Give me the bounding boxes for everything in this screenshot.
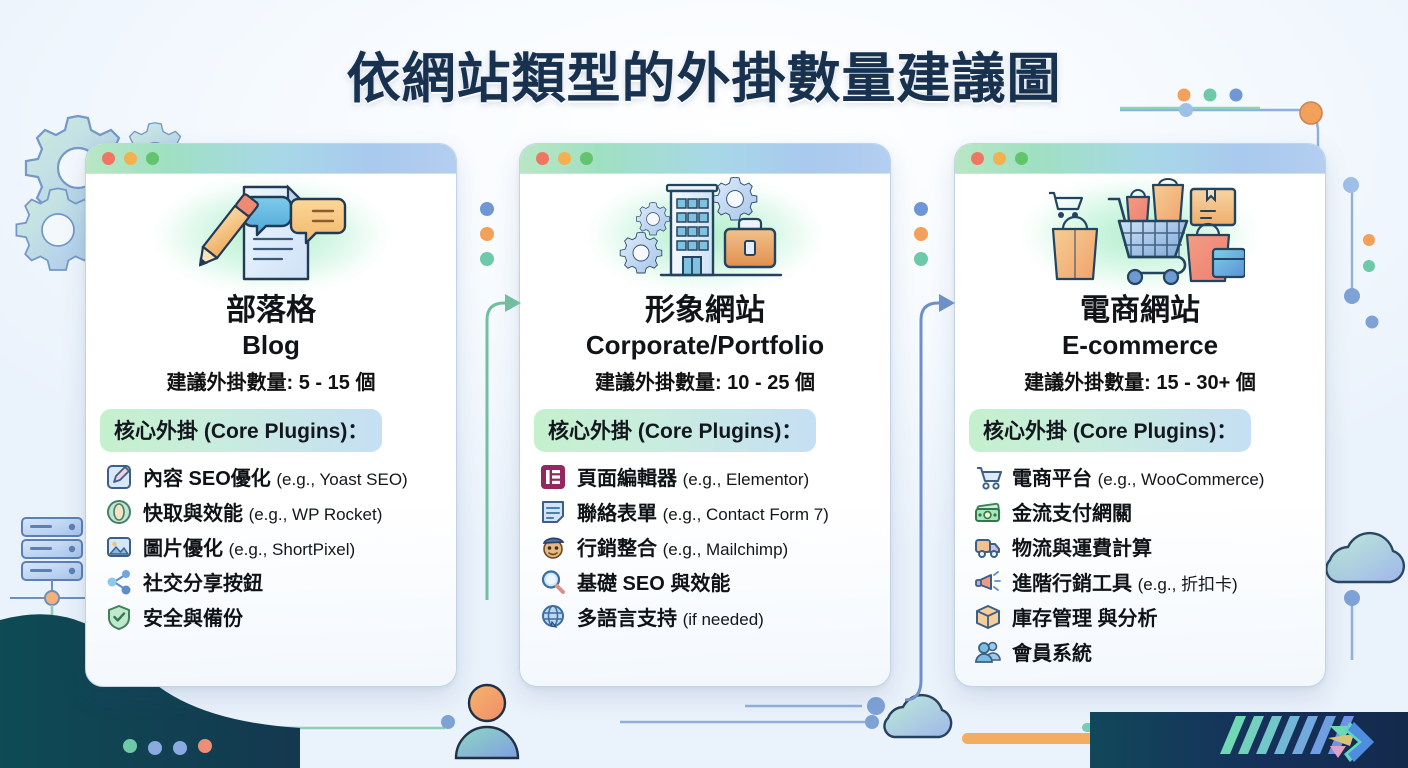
shopping-cart-icon [973, 462, 1003, 492]
list-item[interactable]: 圖片優化 (e.g., ShortPixel) [104, 532, 456, 562]
illustration-document-pencil-chat [86, 174, 456, 292]
window-titlebar [955, 144, 1325, 174]
list-item[interactable]: 電商平台 (e.g., WooCommerce) [973, 462, 1325, 492]
list-item-text: 進階行銷工具 (e.g., 折扣卡) [1012, 567, 1238, 596]
list-item[interactable]: 安全與備份 [104, 602, 456, 632]
list-item-text: 內容 SEO優化 (e.g., Yoast SEO) [143, 462, 408, 491]
list-item-text: 金流支付網關 [1012, 497, 1132, 526]
elementor-icon [538, 462, 568, 492]
list-item[interactable]: 多語言支持 (if needed) [538, 602, 890, 632]
arrow-blog-to-corporate [487, 303, 512, 600]
card-name-cn: 部落格 [96, 294, 446, 329]
plugin-list: 電商平台 (e.g., WooCommerce) 金流支付網關 [955, 460, 1325, 667]
card-plugin-count: 建議外掛數量: 5 - 15 個 [96, 366, 446, 395]
mailchimp-icon [538, 532, 568, 562]
flow-lines-bottom-right [620, 706, 875, 722]
window-dot-yellow[interactable] [124, 152, 137, 165]
money-icon [973, 497, 1003, 527]
speedometer-icon [104, 497, 134, 527]
illustration-shopping-cart-bags-box [955, 174, 1325, 292]
flow-node-dot [865, 715, 879, 729]
list-item-text: 安全與備份 [143, 602, 243, 631]
card-plugin-count: 建議外掛數量: 15 - 30+ 個 [965, 366, 1315, 395]
form-icon [538, 497, 568, 527]
card-name-cn: 電商網站 [965, 294, 1315, 329]
list-item[interactable]: 金流支付網關 [973, 497, 1325, 527]
card-name-en: E-commerce [965, 330, 1315, 360]
arrow-head-blue [939, 294, 955, 312]
flow-node-dot [867, 697, 885, 715]
magnifier-icon [538, 567, 568, 597]
window-dot-green[interactable] [1015, 152, 1028, 165]
cloud-right-icon [1326, 533, 1404, 660]
window-dot-yellow[interactable] [993, 152, 1006, 165]
list-item[interactable]: 會員系統 [973, 637, 1325, 667]
shield-check-icon [104, 602, 134, 632]
card-ecommerce[interactable]: 電商網站 E-commerce 建議外掛數量: 15 - 30+ 個 核心外掛 … [954, 143, 1326, 687]
section-label-core-plugins: 核心外掛 (Core Plugins)： [100, 409, 382, 452]
list-item[interactable]: 行銷整合 (e.g., Mailchimp) [538, 532, 890, 562]
flow-node-dot [441, 715, 455, 729]
truck-icon [973, 532, 1003, 562]
plugin-list: 頁面編輯器 (e.g., Elementor) 聯絡表單 (e.g., Cont… [520, 460, 890, 632]
footer-dots [123, 739, 212, 755]
section-label-core-plugins: 核心外掛 (Core Plugins)： [969, 409, 1251, 452]
window-dot-red[interactable] [536, 152, 549, 165]
list-item[interactable]: 內容 SEO優化 (e.g., Yoast SEO) [104, 462, 456, 492]
card-name-cn: 形象網站 [530, 294, 880, 329]
list-item-text: 多語言支持 (if needed) [577, 602, 764, 631]
list-item-text: 基礎 SEO 與效能 [577, 567, 730, 596]
image-icon [104, 532, 134, 562]
infographic-canvas: 依網站類型的外掛數量建議圖 [0, 0, 1408, 768]
package-box-icon [973, 602, 1003, 632]
card-corporate[interactable]: 形象網站 Corporate/Portfolio 建議外掛數量: 10 - 25… [519, 143, 891, 687]
card-name-en: Blog [96, 330, 446, 360]
share-nodes-icon [104, 567, 134, 597]
diagonal-stripes-footer-icon [1220, 716, 1354, 754]
list-item-text: 庫存管理 與分析 [1012, 602, 1158, 631]
footer-bar-right-fill [1090, 712, 1408, 768]
list-item-text: 行銷整合 (e.g., Mailchimp) [577, 532, 788, 561]
window-dot-green[interactable] [146, 152, 159, 165]
accent-bars [0, 723, 1374, 758]
list-item-text: 社交分享按鈕 [143, 567, 263, 596]
list-item[interactable]: 快取與效能 (e.g., WP Rocket) [104, 497, 456, 527]
list-item-text: 頁面編輯器 (e.g., Elementor) [577, 462, 809, 491]
brand-logo-icon [1328, 722, 1374, 762]
window-titlebar [520, 144, 890, 174]
window-titlebar [86, 144, 456, 174]
users-icon [973, 637, 1003, 667]
cloud-bottom-center-icon [884, 695, 951, 737]
list-item[interactable]: 社交分享按鈕 [104, 567, 456, 597]
window-dot-green[interactable] [580, 152, 593, 165]
card-blog[interactable]: 部落格 Blog 建議外掛數量: 5 - 15 個 核心外掛 (Core Plu… [85, 143, 457, 687]
globe-icon [538, 602, 568, 632]
list-item-text: 快取與效能 (e.g., WP Rocket) [143, 497, 382, 526]
section-label-core-plugins: 核心外掛 (Core Plugins)： [534, 409, 816, 452]
list-item-text: 物流與運費計算 [1012, 532, 1152, 561]
list-item-text: 會員系統 [1012, 637, 1092, 666]
list-item[interactable]: 頁面編輯器 (e.g., Elementor) [538, 462, 890, 492]
window-dot-red[interactable] [102, 152, 115, 165]
arrow-corporate-to-ecommerce [905, 303, 946, 700]
person-avatar-bottom-icon [456, 685, 518, 758]
list-item[interactable]: 基礎 SEO 與效能 [538, 567, 890, 597]
list-item[interactable]: 庫存管理 與分析 [973, 602, 1325, 632]
card-plugin-count: 建議外掛數量: 10 - 25 個 [530, 366, 880, 395]
footer-bar-right [1092, 712, 1408, 764]
list-item[interactable]: 聯絡表單 (e.g., Contact Form 7) [538, 497, 890, 527]
list-item-text: 電商平台 (e.g., WooCommerce) [1012, 462, 1264, 491]
illustration-office-building-gears-briefcase [520, 174, 890, 292]
list-item[interactable]: 進階行銷工具 (e.g., 折扣卡) [973, 567, 1325, 597]
window-dot-yellow[interactable] [558, 152, 571, 165]
megaphone-icon [973, 567, 1003, 597]
window-dot-red[interactable] [971, 152, 984, 165]
list-item[interactable]: 物流與運費計算 [973, 532, 1325, 562]
list-item-text: 圖片優化 (e.g., ShortPixel) [143, 532, 355, 561]
connector-dots-1 [480, 202, 494, 266]
card-name-en: Corporate/Portfolio [530, 330, 880, 360]
plugin-list: 內容 SEO優化 (e.g., Yoast SEO) 快取與效能 (e.g., … [86, 460, 456, 632]
connector-dots-2 [914, 202, 928, 266]
pencil-memo-icon [104, 462, 134, 492]
page-title: 依網站類型的外掛數量建議圖 [0, 34, 1408, 113]
list-item-text: 聯絡表單 (e.g., Contact Form 7) [577, 497, 829, 526]
